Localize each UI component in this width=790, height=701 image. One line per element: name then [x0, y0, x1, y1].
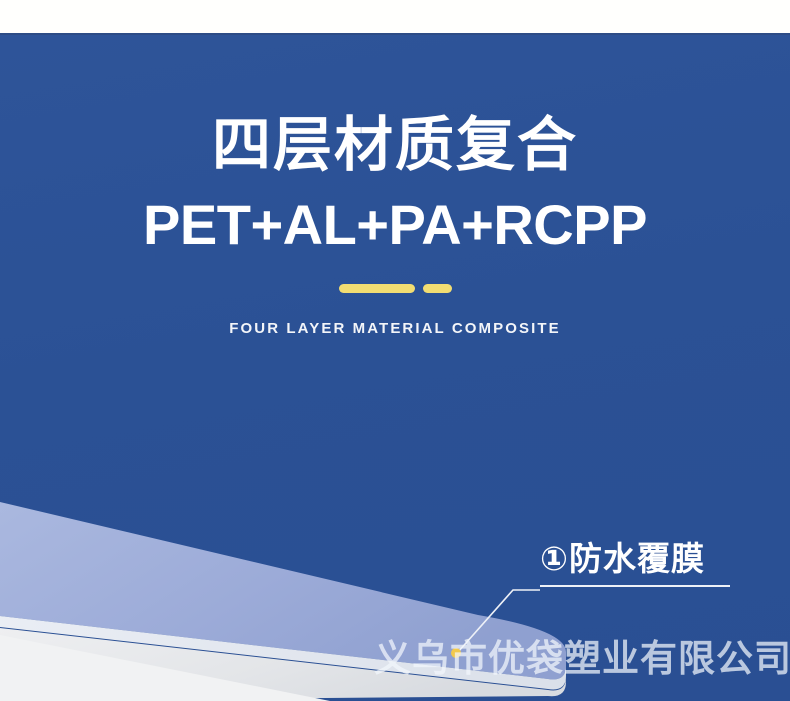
divider [0, 284, 790, 293]
divider-bar-short [423, 284, 452, 293]
callout-underline [540, 585, 730, 587]
company-watermark: 义乌市优袋塑业有限公司 [374, 628, 790, 682]
divider-bar-long [339, 284, 415, 293]
top-white-strip [0, 0, 790, 33]
page-title-cn: 四层材质复合 [0, 110, 790, 180]
callout-waterproof-film: ①防水覆膜 [540, 541, 730, 587]
product-detail-banner: 四层材质复合 PET+AL+PA+RCPP FOUR LAYER MATERIA… [0, 0, 790, 701]
headline-block: 四层材质复合 PET+AL+PA+RCPP FOUR LAYER MATERIA… [0, 110, 790, 337]
top-edge-line [0, 33, 790, 35]
page-title-en: PET+AL+PA+RCPP [0, 192, 790, 258]
subtitle-en: FOUR LAYER MATERIAL COMPOSITE [0, 320, 790, 337]
callout-label: ①防水覆膜 [540, 541, 730, 577]
